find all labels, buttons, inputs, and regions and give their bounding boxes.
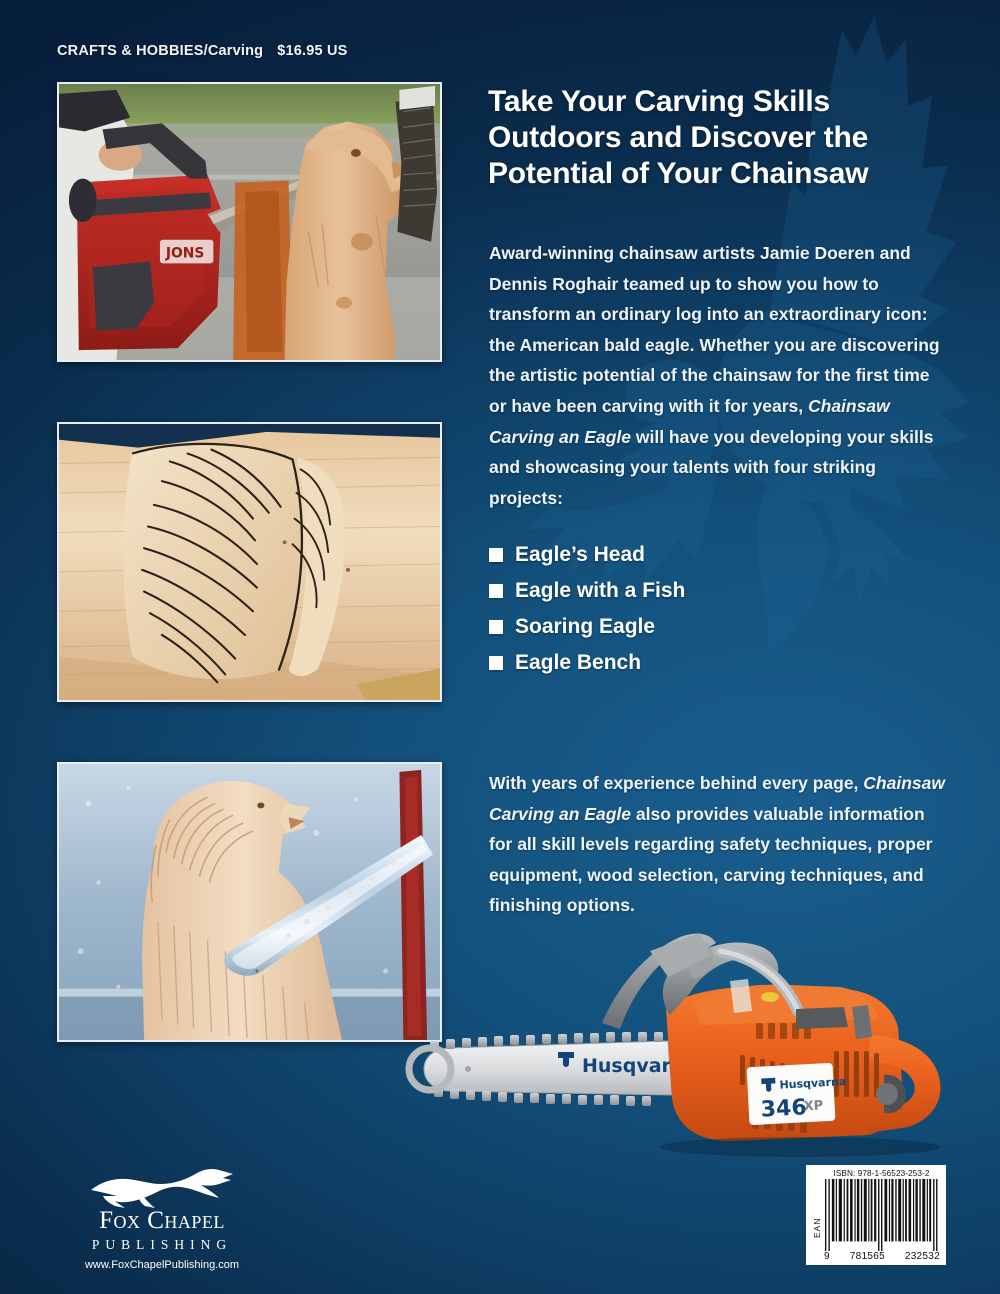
project-label: Eagle’s Head (515, 543, 645, 567)
project-label: Soaring Eagle (515, 615, 655, 639)
headline-line-3: Potential of Your Chainsaw (488, 156, 950, 192)
publisher-name-f: F (99, 1207, 113, 1234)
category-price-line: CRAFTS & HOBBIES/Carving$16.95 US (57, 43, 348, 59)
project-list: Eagle’s Head Eagle with a Fish Soaring E… (489, 537, 929, 681)
intro-paragraph: Award-winning chainsaw artists Jamie Doe… (489, 238, 945, 513)
publisher-url[interactable]: www.FoxChapelPublishing.com (62, 1259, 262, 1271)
photo-eagle-head-with-saw-bar (57, 762, 442, 1042)
barcode-bars (823, 1179, 941, 1251)
barcode-digits: 9 781565 232532 (823, 1251, 941, 1262)
square-bullet-icon (489, 656, 503, 670)
list-item: Eagle with a Fish (489, 573, 929, 609)
ean-label: EAN (811, 1179, 823, 1262)
photo-carving-eagle-with-chainsaw: JONS (57, 82, 442, 362)
project-label: Eagle with a Fish (515, 579, 685, 603)
publisher-name-hapel: HAPEL (164, 1212, 225, 1232)
barcode-digit-group-1: 781565 (850, 1251, 885, 1262)
barcode-block: ISBN: 978-1-56523-253-2 EAN (806, 1165, 946, 1265)
chainsaw-model-suffix: XP (803, 1098, 823, 1114)
husqvarna-chainsaw-image: Husqvarna (400, 915, 980, 1160)
category-label: CRAFTS & HOBBIES/Carving (57, 43, 263, 59)
square-bullet-icon (489, 584, 503, 598)
fox-icon (87, 1168, 237, 1210)
publisher-name: FOX CHAPEL (62, 1208, 262, 1235)
publisher-subtitle: PUBLISHING (62, 1237, 262, 1253)
headline-line-1: Take Your Carving Skills (488, 84, 950, 120)
isbn-text: ISBN: 978-1-56523-253-2 (822, 1169, 941, 1178)
price-label: $16.95 US (277, 43, 347, 59)
intro-text-a: Award-winning chainsaw artists Jamie Doe… (489, 243, 940, 416)
secondary-paragraph: With years of experience behind every pa… (489, 768, 945, 921)
list-item: Eagle’s Head (489, 537, 929, 573)
photo-carved-wing-feathers-detail (57, 422, 442, 702)
barcode-digit-group-2: 232532 (905, 1251, 940, 1262)
square-bullet-icon (489, 620, 503, 634)
barcode-digit-left: 9 (824, 1251, 830, 1262)
svg-text:JONS: JONS (165, 246, 204, 262)
secondary-text-a: With years of experience behind every pa… (489, 773, 863, 793)
square-bullet-icon (489, 548, 503, 562)
list-item: Eagle Bench (489, 645, 929, 681)
publisher-logo: FOX CHAPEL PUBLISHING www.FoxChapelPubli… (62, 1168, 262, 1271)
chainsaw-model-number: 346 (760, 1095, 807, 1122)
book-back-cover: CRAFTS & HOBBIES/Carving$16.95 US (0, 0, 1000, 1294)
headline-line-2: Outdoors and Discover the (488, 120, 950, 156)
project-label: Eagle Bench (515, 651, 641, 675)
page-headline: Take Your Carving Skills Outdoors and Di… (488, 84, 950, 192)
publisher-name-c: C (147, 1207, 164, 1234)
list-item: Soaring Eagle (489, 609, 929, 645)
publisher-name-ox: OX (113, 1212, 140, 1232)
